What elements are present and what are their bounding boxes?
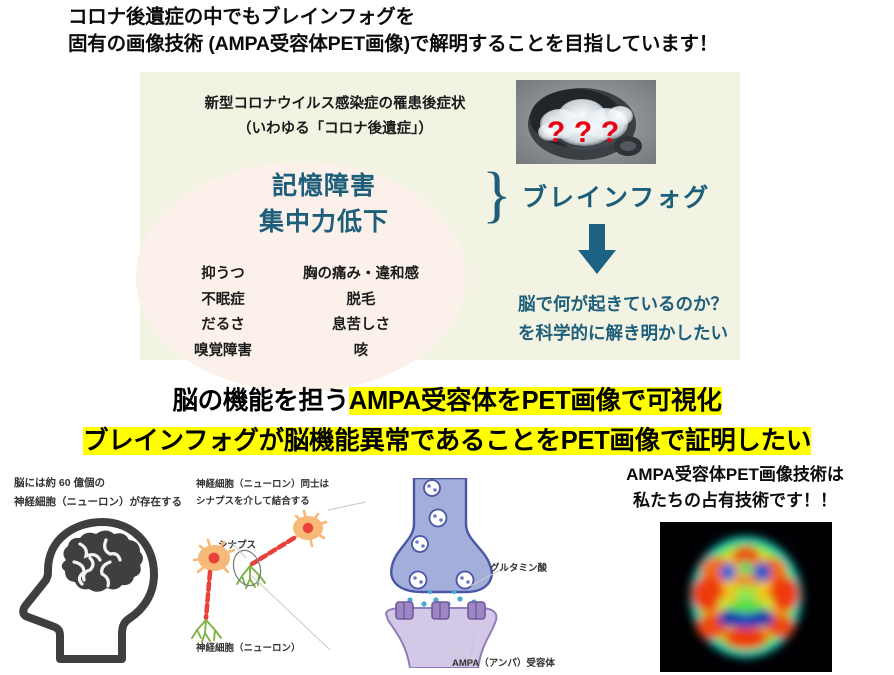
brain-caption-line-1: 脳には約 60 億個の bbox=[14, 474, 214, 493]
svg-text:?: ? bbox=[601, 116, 619, 149]
symptom-column-left: 抑うつ 不眠症 だるさ 嗅覚障害 bbox=[168, 262, 278, 364]
symptom-item: 胸の痛み・違和感 bbox=[276, 262, 446, 288]
synapse-closeup-diagram bbox=[370, 478, 510, 668]
symptom-column-right: 胸の痛み・違和感 脱毛 息苦しさ 咳 bbox=[276, 262, 446, 364]
covid-title-line-1: 新型コロナウイルス感染症の罹患後症状 bbox=[140, 92, 530, 117]
symptom-item: 抑うつ bbox=[168, 262, 278, 288]
head-with-brain-icon bbox=[18, 518, 166, 663]
neuron-caption-line-1: 神経細胞（ニューロン）同士は bbox=[196, 476, 381, 493]
covid-title-line-2: （いわゆる「コロナ後遺症」） bbox=[140, 117, 530, 142]
ownership-line-1: AMPA受容体PET画像技術は bbox=[576, 462, 894, 488]
banner-line-1-plain: 脳の機能を担う bbox=[172, 387, 348, 415]
major-symptom-memory: 記憶障害 bbox=[164, 168, 484, 204]
brain-fog-label: ブレインフォグ bbox=[522, 178, 710, 214]
symptom-item: 嗅覚障害 bbox=[168, 339, 278, 365]
research-question-text: 脳で何が起きているのか？ を科学的に解き明かしたい bbox=[518, 290, 728, 348]
pet-brain-scan-image bbox=[660, 522, 832, 672]
symptom-item: 息苦しさ bbox=[276, 313, 446, 339]
page-headline: コロナ後遺症の中でもブレインフォグを 固有の画像技術 (AMPA受容体PET画像… bbox=[68, 4, 868, 58]
major-symptom-concentration: 集中力低下 bbox=[164, 204, 484, 240]
glutamate-label: グルタミン酸 bbox=[490, 560, 547, 574]
symptom-item: 不眠症 bbox=[168, 288, 278, 314]
svg-text:?: ? bbox=[547, 116, 565, 149]
neuron-network-diagram bbox=[180, 500, 370, 650]
brain-fog-photo: ? ? ? bbox=[516, 80, 656, 164]
highlight-banner: 脳の機能を担うAMPA受容体をPET画像で可視化 ブレインフォグが脳機能異常であ… bbox=[0, 381, 894, 461]
research-question-line-1: 脳で何が起きているのか？ bbox=[518, 290, 728, 319]
ampa-receptor-label: AMPA（アンパ）受容体 bbox=[452, 655, 555, 669]
research-question-line-2: を科学的に解き明かしたい bbox=[518, 319, 728, 348]
brace-glyph: } bbox=[482, 164, 512, 226]
symptom-item: 咳 bbox=[276, 339, 446, 365]
banner-line-1: 脳の機能を担うAMPA受容体をPET画像で可視化 bbox=[0, 381, 894, 421]
symptom-item: だるさ bbox=[168, 313, 278, 339]
banner-line-1-highlight: AMPA受容体をPET画像で可視化 bbox=[349, 387, 722, 415]
down-arrow-icon bbox=[574, 224, 620, 276]
covid-symptom-panel: 新型コロナウイルス感染症の罹患後症状 （いわゆる「コロナ後遺症」） bbox=[140, 72, 740, 360]
ownership-line-2: 私たちの占有技術です！！ bbox=[576, 488, 894, 514]
banner-line-2-highlight: ブレインフォグが脳機能異常であることをPET画像で証明したい bbox=[83, 427, 811, 455]
banner-line-2: ブレインフォグが脳機能異常であることをPET画像で証明したい bbox=[0, 421, 894, 461]
major-symptoms-group: 記憶障害 集中力低下 bbox=[164, 168, 484, 240]
ownership-statement: AMPA受容体PET画像技術は 私たちの占有技術です！！ bbox=[576, 462, 894, 514]
svg-text:?: ? bbox=[574, 116, 592, 149]
symptom-item: 脱毛 bbox=[276, 288, 446, 314]
headline-line-2: 固有の画像技術 (AMPA受容体PET画像)で解明することを目指しています！ bbox=[68, 31, 868, 58]
covid-panel-title: 新型コロナウイルス感染症の罹患後症状 （いわゆる「コロナ後遺症」） bbox=[140, 92, 530, 142]
headline-line-1: コロナ後遺症の中でもブレインフォグを bbox=[68, 4, 868, 31]
